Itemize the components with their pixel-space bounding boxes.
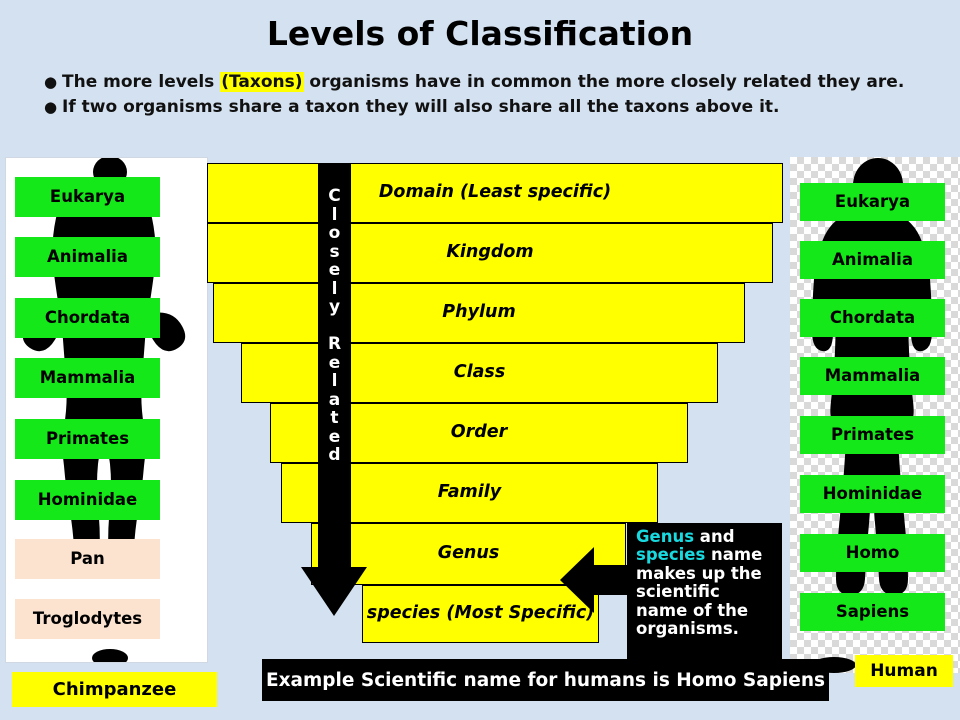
arrow-letter: a bbox=[329, 391, 340, 410]
callout-conjunction: and bbox=[694, 527, 734, 546]
arrow-letter: l bbox=[332, 372, 338, 391]
arrow-letter: l bbox=[332, 206, 338, 225]
arrow-letter: l bbox=[332, 280, 338, 299]
callout-word-species: species bbox=[636, 545, 705, 564]
closely-related-arrow-label: C l o s e l y R e l a t e d bbox=[318, 163, 351, 573]
arrow-letter: o bbox=[329, 224, 341, 243]
arrow-letter: s bbox=[329, 243, 339, 262]
arrow-letter: e bbox=[329, 354, 341, 373]
callout-word-genus: Genus bbox=[636, 527, 694, 546]
pyramid-level-domain: Domain (Least specific) bbox=[207, 163, 783, 223]
arrow-letter: C bbox=[328, 187, 340, 206]
arrow-letter: y bbox=[329, 298, 340, 317]
genus-species-callout: Genus and species name makes up the scie… bbox=[627, 523, 782, 659]
classification-pyramid: Domain (Least specific) Kingdom Phylum C… bbox=[0, 0, 960, 720]
pyramid-level-phylum: Phylum bbox=[213, 283, 745, 343]
example-banner: Example Scientific name for humans is Ho… bbox=[262, 659, 829, 701]
closely-related-arrowhead-icon bbox=[301, 567, 367, 616]
arrow-letter: e bbox=[329, 261, 341, 280]
arrow-letter-gap bbox=[332, 317, 338, 336]
pyramid-level-class: Class bbox=[241, 343, 718, 403]
organism-label-human: Human bbox=[855, 655, 953, 687]
callout-pointer-arrow-icon bbox=[560, 545, 635, 615]
arrow-letter: d bbox=[328, 446, 340, 465]
pyramid-level-kingdom: Kingdom bbox=[207, 223, 773, 283]
arrow-letter: t bbox=[330, 409, 338, 428]
arrow-letter: e bbox=[329, 428, 341, 447]
arrow-letter: R bbox=[328, 335, 341, 354]
